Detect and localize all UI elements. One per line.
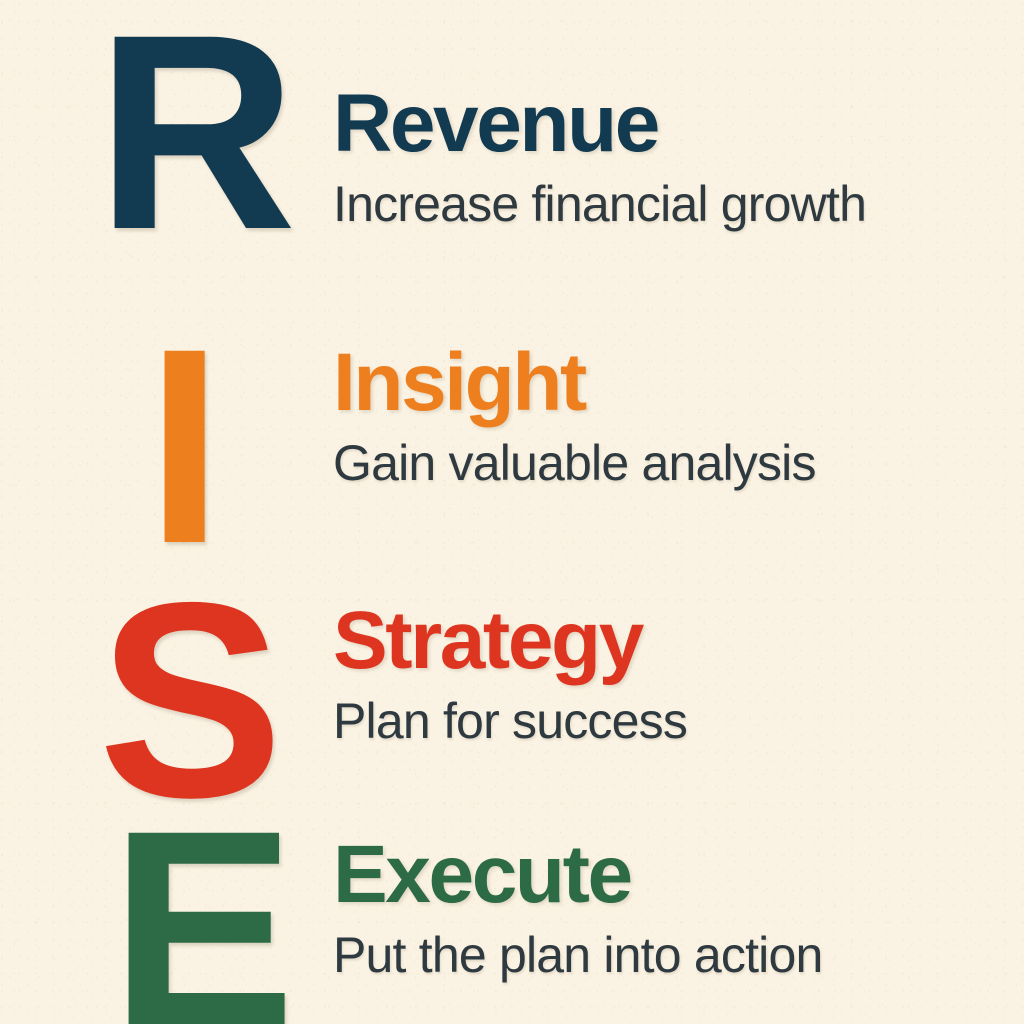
heading-insight: Insight [333, 342, 816, 424]
initial-letter-e: E [110, 789, 291, 1024]
heading-execute: Execute [333, 834, 823, 916]
acronym-row-list: R Revenue Increase financial growth I In… [0, 0, 1024, 1024]
initial-letter-r: R [96, 0, 293, 271]
heading-revenue: Revenue [333, 83, 866, 165]
text-column-revenue: Revenue Increase financial growth [333, 83, 866, 229]
subheading-insight: Gain valuable analysis [333, 438, 816, 488]
text-column-execute: Execute Put the plan into action [333, 834, 823, 980]
acronym-row-execute: E Execute Put the plan into action [0, 748, 1024, 1024]
heading-strategy: Strategy [333, 600, 687, 682]
acronym-row-insight: I Insight Gain valuable analysis [0, 262, 1024, 562]
acronym-row-revenue: R Revenue Increase financial growth [0, 0, 1024, 300]
text-column-strategy: Strategy Plan for success [333, 600, 687, 746]
rise-acronym-poster: R Revenue Increase financial growth I In… [0, 0, 1024, 1024]
subheading-execute: Put the plan into action [333, 930, 823, 980]
subheading-strategy: Plan for success [333, 696, 687, 746]
text-column-insight: Insight Gain valuable analysis [333, 342, 816, 488]
subheading-revenue: Increase financial growth [333, 179, 866, 229]
